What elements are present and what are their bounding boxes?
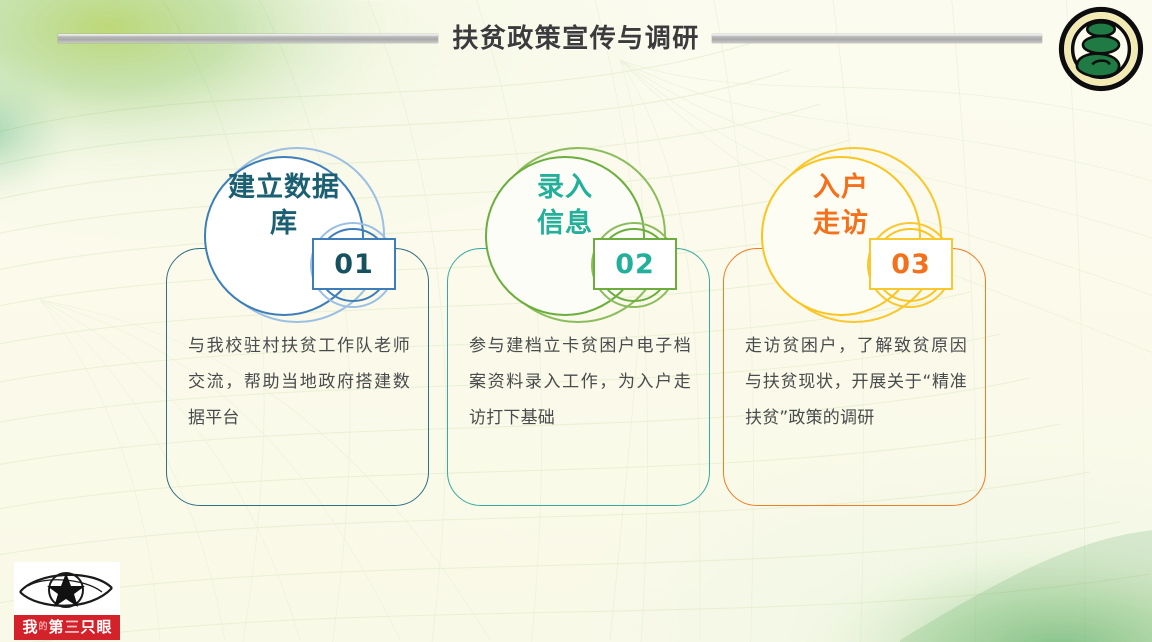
step-card-text-03: 走访贫困户，了解致贫原因与扶贫现状，开展关于“精准扶贫”政策的调研 xyxy=(745,328,967,436)
third-eye-watermark: 我 的 第 三 只 眼 xyxy=(14,562,120,640)
slide-canvas: 扶贫政策宣传与调研 与我校驻村扶贫工作队老师交流，帮助当地政府搭建数据平台 建立… xyxy=(0,0,1152,642)
step-heading-line1-02: 录入 xyxy=(489,170,641,206)
step-number-badge-03: 03 xyxy=(869,238,953,290)
step-card-text-01: 与我校驻村扶贫工作队老师交流，帮助当地政府搭建数据平台 xyxy=(188,328,410,436)
step-heading-line2-03: 走访 xyxy=(765,206,917,242)
step-circle-01: 建立数据 库 01 xyxy=(202,140,392,330)
step-heading-line2-01: 库 xyxy=(208,206,360,242)
step-card-03[interactable]: 走访贫困户，了解致贫原因与扶贫现状，开展关于“精准扶贫”政策的调研 入户 走访 … xyxy=(723,140,988,520)
slide-header: 扶贫政策宣传与调研 xyxy=(0,0,1152,78)
step-circle-03: 入户 走访 03 xyxy=(759,140,949,330)
eye-star-icon xyxy=(14,562,120,615)
step-heading-line1-03: 入户 xyxy=(765,170,917,206)
process-step-cards: 与我校驻村扶贫工作队老师交流，帮助当地政府搭建数据平台 建立数据 库 01 参与… xyxy=(0,140,1152,540)
watermark-char-small: 的 xyxy=(38,623,47,632)
step-card-01[interactable]: 与我校驻村扶贫工作队老师交流，帮助当地政府搭建数据平台 建立数据 库 01 xyxy=(166,140,431,520)
watermark-char-1: 我 xyxy=(22,620,37,635)
watermark-char-2: 第 xyxy=(48,620,63,635)
watermark-band: 我 的 第 三 只 眼 xyxy=(14,615,120,640)
watermark-char-5: 眼 xyxy=(97,620,112,635)
watermark-char-3: 三 xyxy=(65,620,80,635)
step-heading-line2-02: 信息 xyxy=(489,206,641,242)
page-title: 扶贫政策宣传与调研 xyxy=(0,18,1152,55)
stacked-stones-logo-icon xyxy=(1058,6,1144,92)
step-card-02[interactable]: 参与建档立卡贫困户电子档案资料录入工作，为入户走访打下基础 录入 信息 02 xyxy=(447,140,712,520)
step-number-badge-02: 02 xyxy=(593,238,677,290)
step-card-text-02: 参与建档立卡贫困户电子档案资料录入工作，为入户走访打下基础 xyxy=(469,328,691,436)
step-heading-01: 建立数据 库 xyxy=(208,170,360,242)
step-heading-02: 录入 信息 xyxy=(489,170,641,242)
watermark-char-4: 只 xyxy=(81,620,96,635)
step-number-badge-01: 01 xyxy=(312,238,396,290)
step-heading-03: 入户 走访 xyxy=(765,170,917,242)
step-heading-line1-01: 建立数据 xyxy=(208,170,360,206)
step-circle-02: 录入 信息 02 xyxy=(483,140,673,330)
